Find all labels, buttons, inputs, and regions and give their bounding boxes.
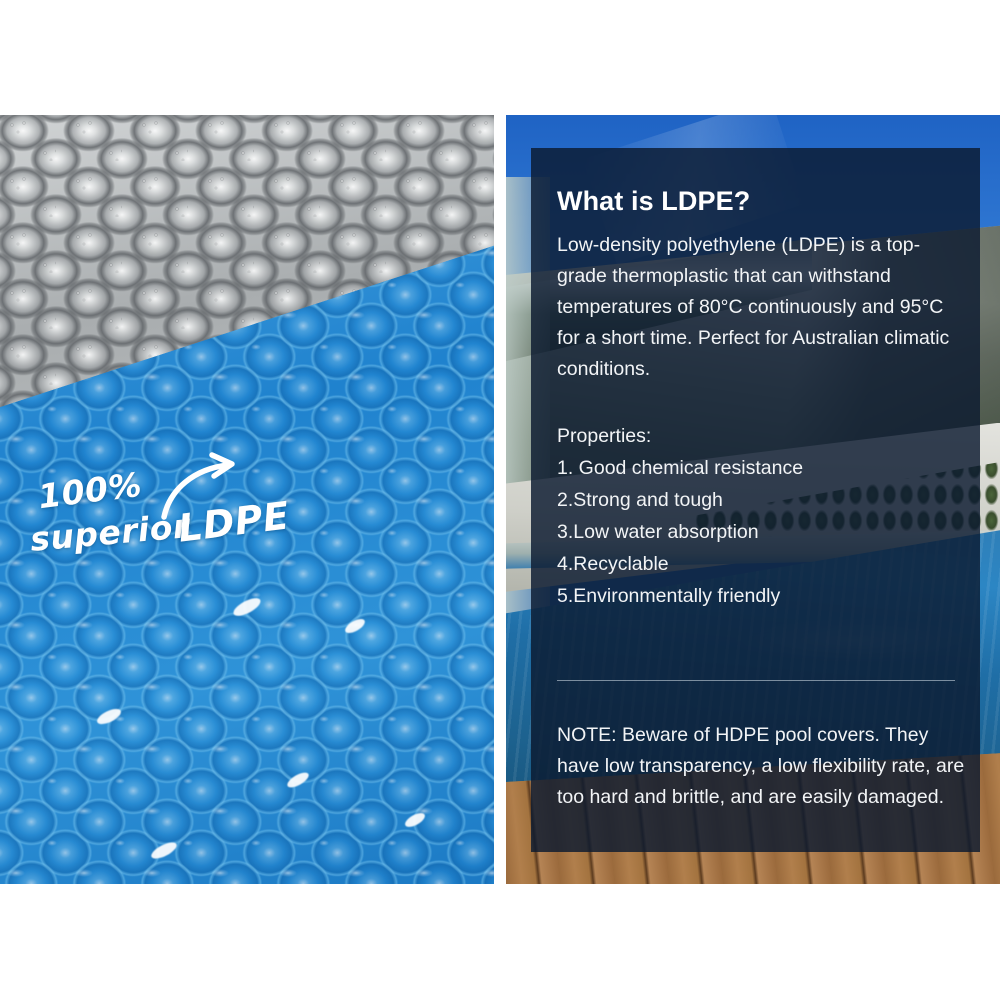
left-product-photo-panel: 100% superior LDPE <box>0 115 494 884</box>
infographic-canvas: 100% superior LDPE What is LDPE? Low-den… <box>0 0 1000 1000</box>
properties-heading: Properties: <box>557 421 651 452</box>
card-note-text: NOTE: Beware of HDPE pool covers. They h… <box>557 720 967 813</box>
card-intro-paragraph: Low-density polyethylene (LDPE) is a top… <box>557 230 957 385</box>
card-title: What is LDPE? <box>557 186 750 217</box>
ldpe-info-card: What is LDPE? Low-density polyethylene (… <box>531 148 980 852</box>
list-item: 5.Environmentally friendly <box>557 580 957 612</box>
list-item: 2.Strong and tough <box>557 484 957 516</box>
list-item: 1. Good chemical resistance <box>557 452 957 484</box>
right-info-panel: What is LDPE? Low-density polyethylene (… <box>506 115 1000 884</box>
list-item: 4.Recyclable <box>557 548 957 580</box>
list-item: 3.Low water absorption <box>557 516 957 548</box>
card-divider <box>557 680 955 681</box>
properties-list: 1. Good chemical resistance 2.Strong and… <box>557 452 957 612</box>
